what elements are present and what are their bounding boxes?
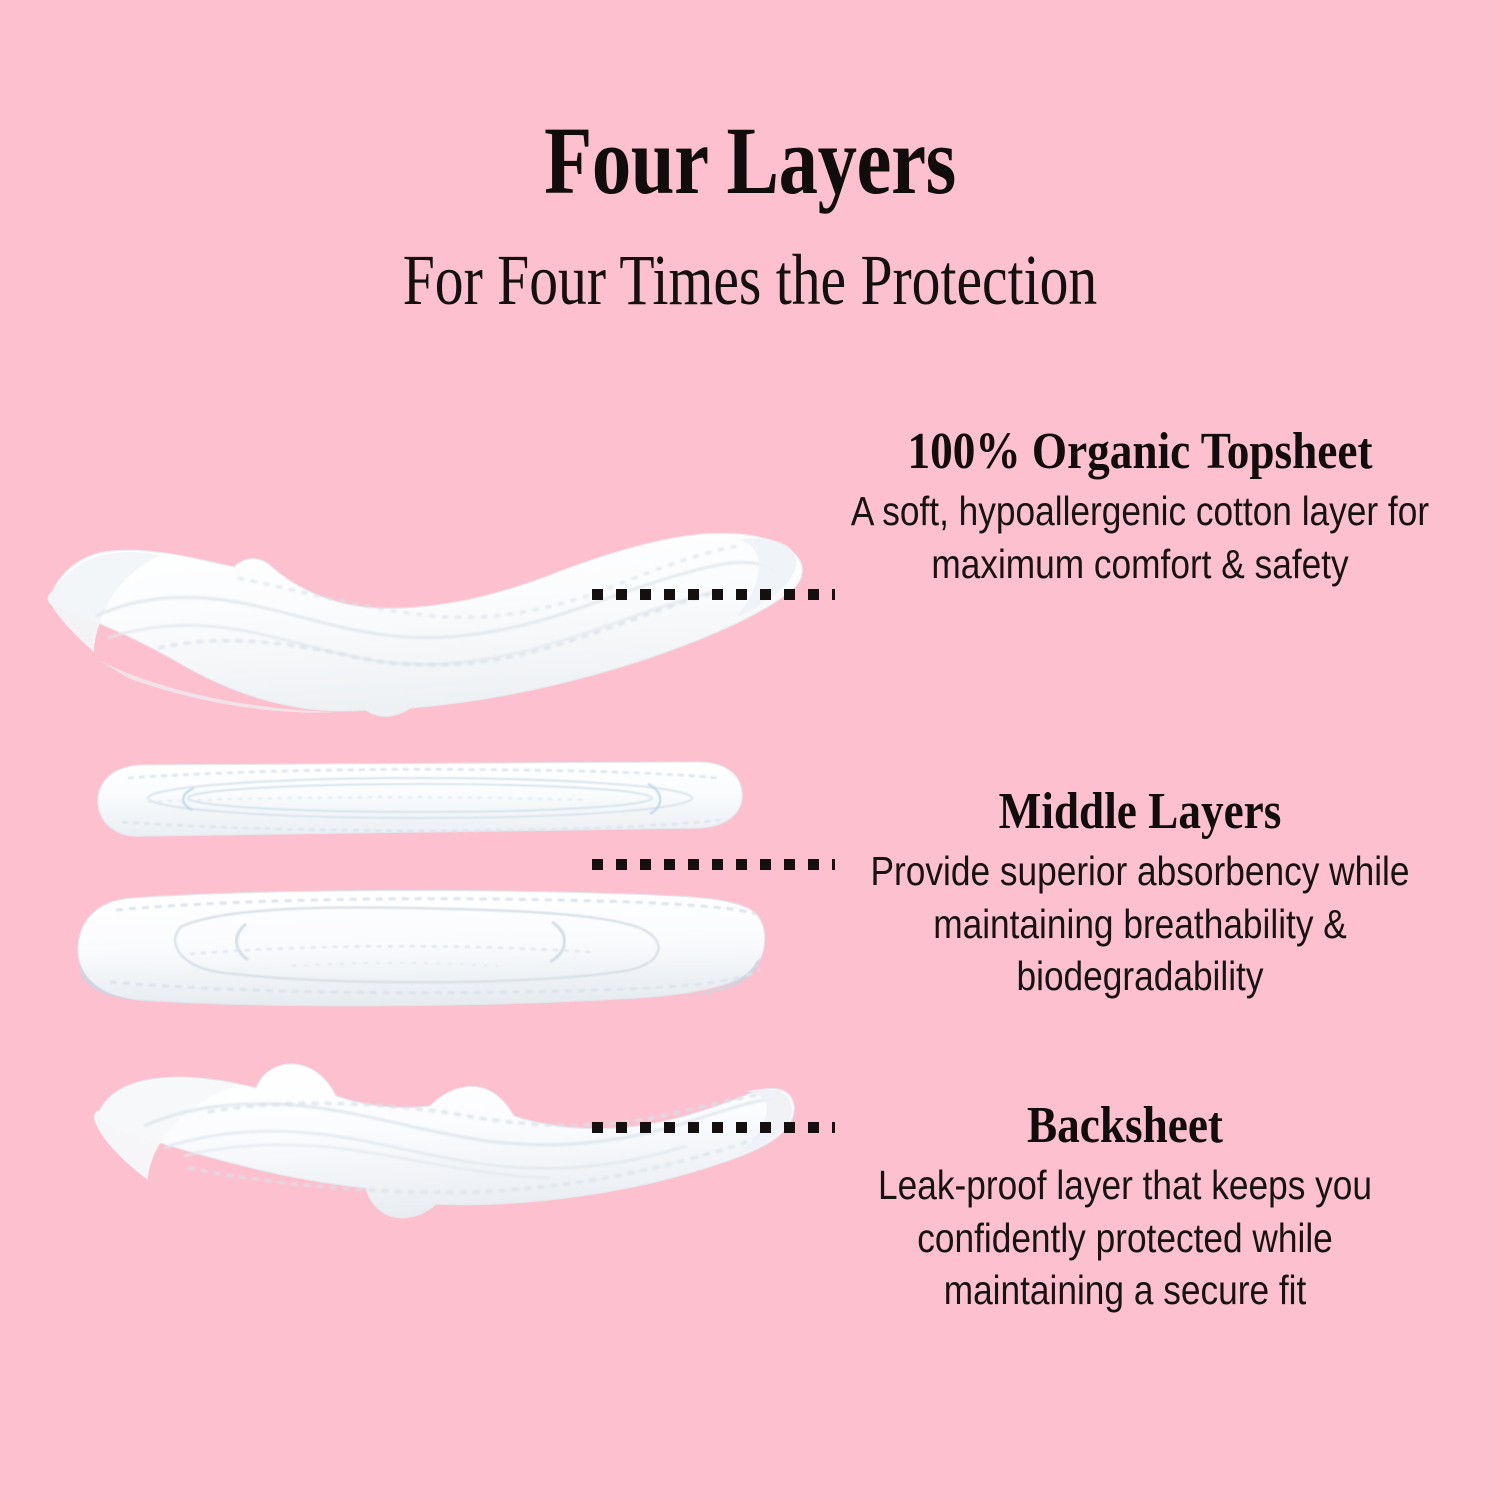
connector-dotted-line-middle <box>592 859 835 870</box>
page-title: Four Layers <box>135 112 1365 210</box>
layer-block-backsheet: Backsheet Leak-proof layer that keeps yo… <box>780 1098 1470 1317</box>
infographic-canvas: Four Layers For Four Times the Protectio… <box>0 0 1500 1500</box>
product-image-topsheet <box>38 520 808 750</box>
layer-heading-backsheet: Backsheet <box>825 1098 1425 1153</box>
product-image-middle-thick-pad <box>70 884 770 1014</box>
layer-block-topsheet: 100% Organic Topsheet A soft, hypoallerg… <box>790 424 1490 590</box>
layer-block-middle: Middle Layers Provide superior absorbenc… <box>800 784 1480 1003</box>
layer-heading-middle: Middle Layers <box>844 784 1436 839</box>
layer-heading-topsheet: 100% Organic Topsheet <box>836 424 1445 479</box>
connector-dotted-line-topsheet <box>592 589 835 600</box>
layer-body-topsheet: A soft, hypoallergenic cotton layer for … <box>839 485 1441 590</box>
layer-body-backsheet: Leak-proof layer that keeps you confiden… <box>828 1159 1421 1316</box>
layer-body-middle: Provide superior absorbency while mainta… <box>848 845 1433 1002</box>
page-subtitle: For Four Times the Protection <box>150 243 1350 319</box>
product-image-middle-thin-strip <box>88 752 748 862</box>
